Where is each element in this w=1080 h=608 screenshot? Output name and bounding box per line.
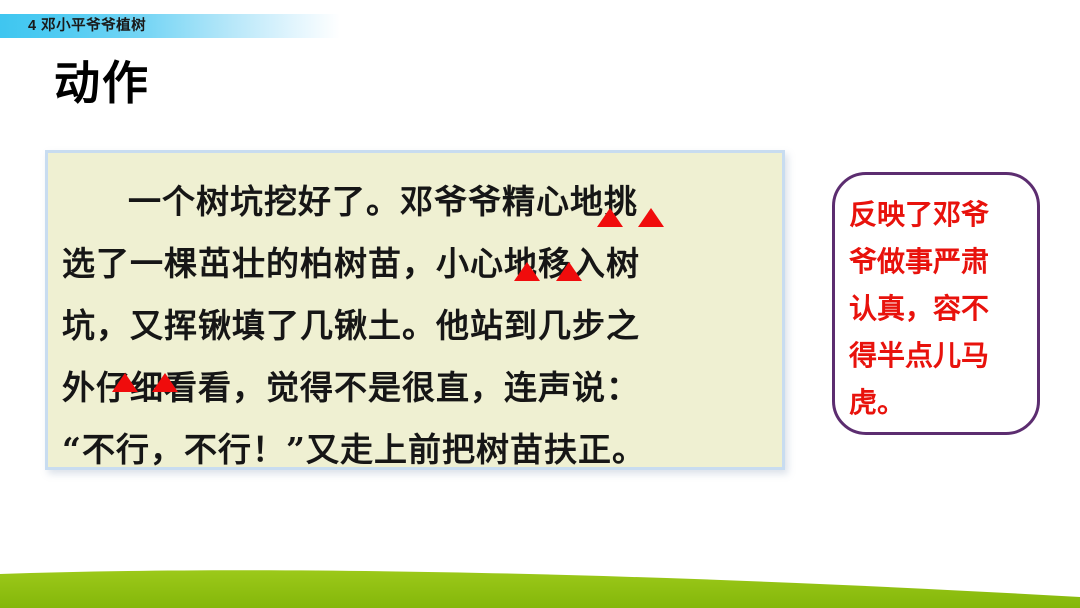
green-bottom-wave: [0, 548, 1080, 608]
header-bar: [0, 14, 1080, 38]
quote-text-body: 一个树坑挖好了。邓爷爷精心地挑 选了一棵茁壮的柏树苗，小心地移入树 坑，又挥锹填…: [48, 153, 788, 481]
triangle-up-icon-tiao: [597, 208, 623, 227]
triangle-up-icon-yi: [514, 262, 540, 281]
triangle-up-icon-ru: [556, 262, 582, 281]
quote-panel: 一个树坑挖好了。邓爷爷精心地挑 选了一棵茁壮的柏树苗，小心地移入树 坑，又挥锹填…: [45, 150, 785, 470]
quote-line-3: 坑，又挥锹填了几锹土。他站到几步之: [62, 295, 774, 357]
callout-line-3: 认真，容不: [849, 285, 1032, 332]
quote-line-5: “不行，不行！”又走上前把树苗扶正。: [62, 419, 774, 481]
callout-line-1: 反映了邓爷: [849, 191, 1032, 238]
quote-line-1: 一个树坑挖好了。邓爷爷精心地挑: [62, 171, 774, 233]
page-title: 动作: [54, 58, 150, 109]
quote-line-2: 选了一棵茁壮的柏树苗，小心地移入树: [62, 233, 774, 295]
commentary-text-body: 反映了邓爷 爷做事严肃 认真，容不 得半点儿马 虎。: [835, 175, 1043, 426]
header-title: 4 邓小平爷爷植树: [28, 16, 146, 36]
commentary-callout: 反映了邓爷 爷做事严肃 认真，容不 得半点儿马 虎。: [832, 172, 1040, 435]
quote-line-1-text: 一个树坑挖好了。邓爷爷精心地挑: [128, 182, 638, 221]
callout-line-4: 得半点儿马: [849, 332, 1032, 379]
callout-line-2: 爷做事严肃: [849, 238, 1032, 285]
triangle-up-icon-xuan: [638, 208, 664, 227]
triangle-up-icon-kan-2: [152, 373, 178, 392]
callout-line-5: 虎。: [849, 379, 1032, 426]
triangle-up-icon-kan-1: [112, 373, 138, 392]
